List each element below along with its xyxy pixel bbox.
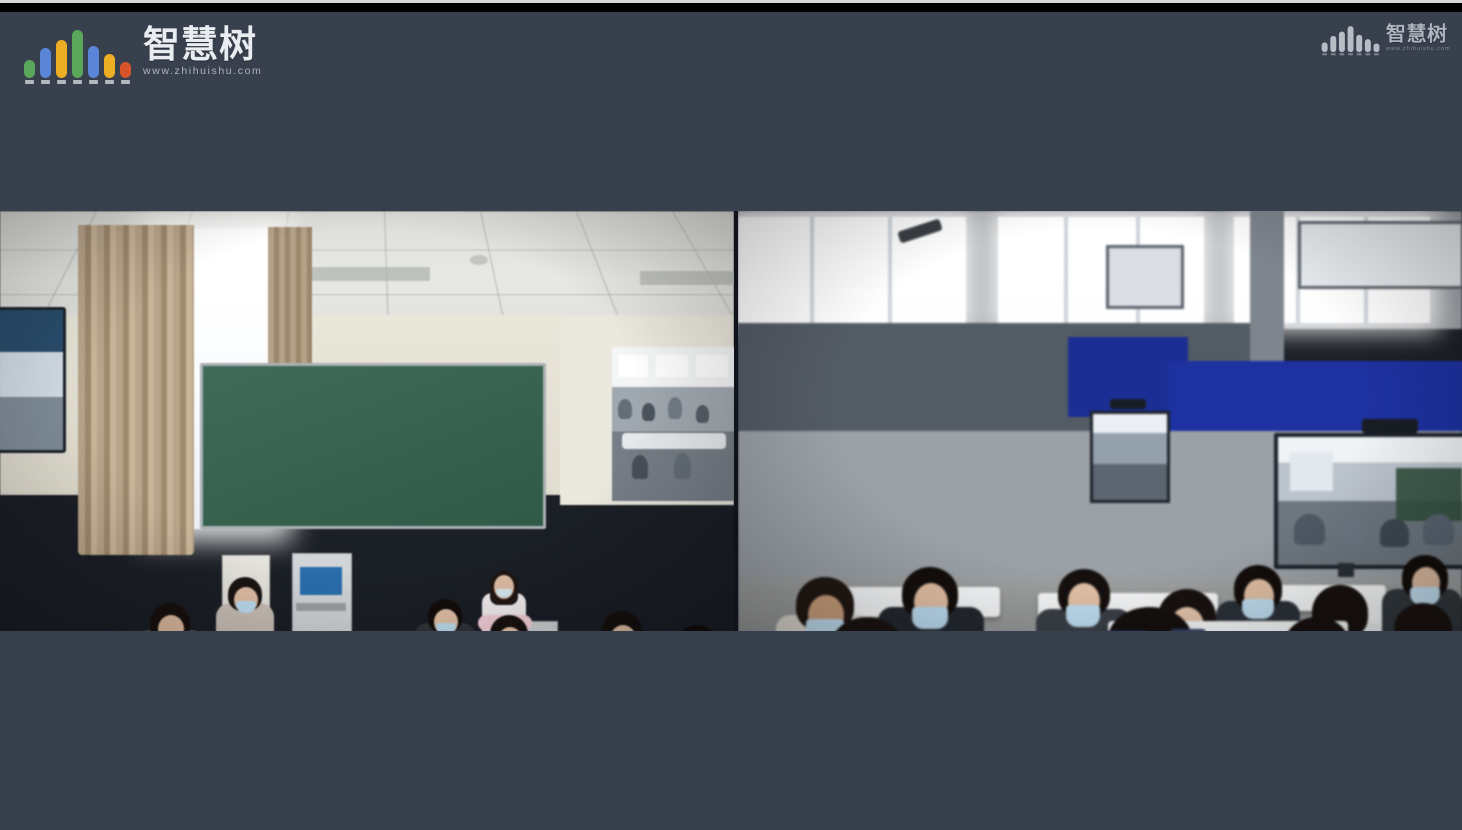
presentation-stage: 智慧树 www.zhihuishu.com 智慧树 www.zhihuishu.… xyxy=(0,0,1462,830)
logo-bar-5 xyxy=(88,46,99,78)
logo-bar-3 xyxy=(1339,32,1345,53)
brand-logo-primary[interactable]: 智慧树 www.zhihuishu.com xyxy=(24,26,262,78)
brand-wordmark: 智慧树 www.zhihuishu.com xyxy=(143,26,262,78)
brand-name-cn: 智慧树 xyxy=(143,26,257,64)
logo-bar-7 xyxy=(1373,43,1379,52)
scene-nanjing-tech-classroom xyxy=(0,211,734,631)
scene-xinjiang-institute-classroom xyxy=(738,211,1462,631)
logo-bar-1 xyxy=(1321,42,1327,52)
brand-name-cn-secondary: 智慧树 xyxy=(1386,24,1448,45)
logo-bar-4 xyxy=(72,30,83,78)
logo-bar-2 xyxy=(40,48,51,78)
brand-url-text-secondary: www.zhihuishu.com xyxy=(1386,45,1450,51)
video-panel-left[interactable] xyxy=(0,211,734,631)
zhihuishu-bars-logo-mono-icon xyxy=(1321,26,1379,52)
brand-wordmark-secondary: 智慧树 www.zhihuishu.com xyxy=(1386,24,1450,52)
caption-row: 南京工业大学 新疆工程学院 xyxy=(0,631,1462,830)
logo-bar-3 xyxy=(56,40,67,78)
logo-bar-7 xyxy=(120,62,131,78)
zhihuishu-bars-logo-icon xyxy=(24,30,131,78)
video-wall xyxy=(0,211,1462,631)
logo-bar-6 xyxy=(1364,39,1370,52)
brand-url-text: www.zhihuishu.com xyxy=(143,65,262,77)
logo-bar-4 xyxy=(1347,26,1353,52)
logo-bar-5 xyxy=(1356,35,1362,52)
logo-bar-6 xyxy=(104,54,115,78)
logo-bar-2 xyxy=(1330,36,1336,52)
logo-bar-1 xyxy=(24,60,35,78)
video-panel-right[interactable] xyxy=(738,211,1462,631)
brand-logo-secondary[interactable]: 智慧树 www.zhihuishu.com xyxy=(1321,24,1450,52)
top-bezel-shadow xyxy=(0,3,1462,12)
